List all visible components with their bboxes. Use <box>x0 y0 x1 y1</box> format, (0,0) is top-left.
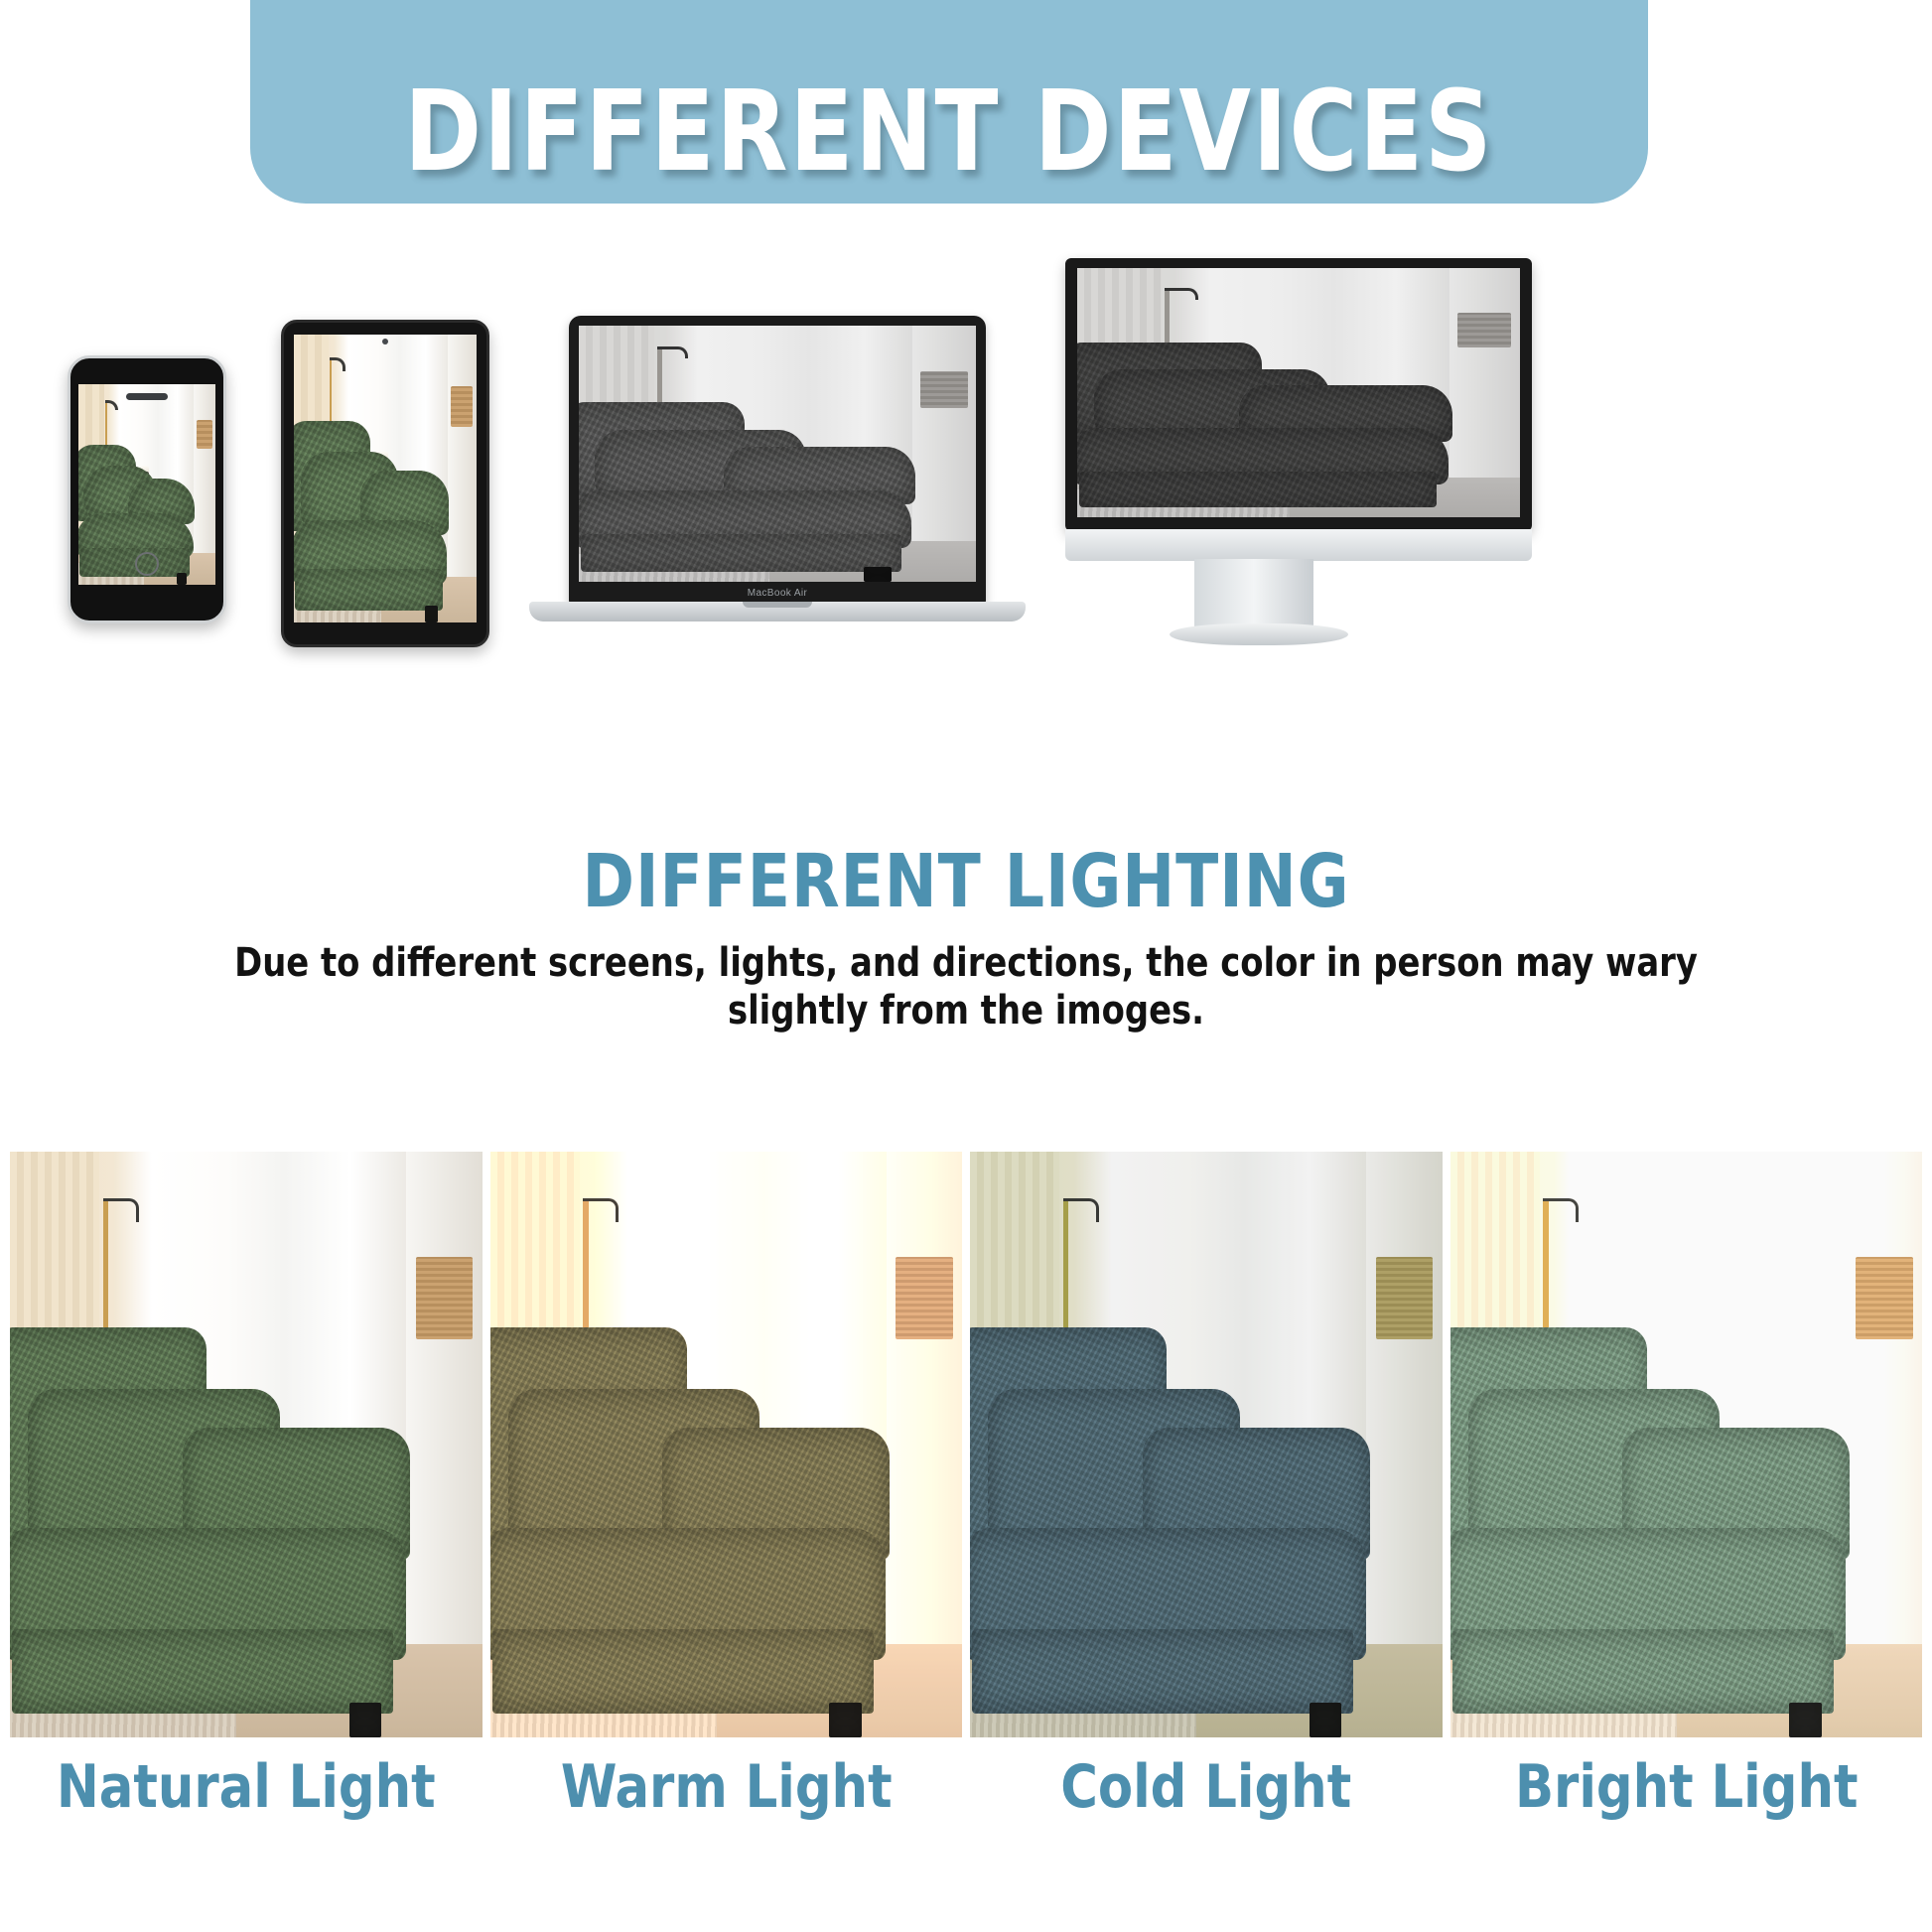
laptop-lid: MacBook Air <box>569 316 986 604</box>
device-tablet <box>281 320 489 647</box>
lighting-subtitle: Due to different screens, lights, and di… <box>58 939 1873 1036</box>
photo-basket <box>1376 1257 1434 1339</box>
sofa-leg <box>425 606 438 622</box>
sofa-base <box>492 1629 874 1715</box>
photo-sofa <box>490 1327 883 1714</box>
sofa-photo <box>579 326 976 582</box>
panel-cold-light <box>970 1152 1443 1737</box>
smartphone-screen <box>78 384 215 585</box>
photo-basket <box>451 386 473 427</box>
monitor-bezel <box>1065 258 1532 531</box>
sofa-photo <box>1077 268 1520 517</box>
monitor-chin <box>1065 529 1532 561</box>
sofa-photo <box>294 335 477 622</box>
lighting-subtitle-line-2: slightly from the imoges. <box>58 987 1873 1035</box>
sofa-leg <box>864 567 892 582</box>
page-title: DIFFERENT DEVICES <box>404 76 1493 188</box>
front-camera-icon <box>382 339 388 345</box>
device-monitor <box>1065 258 1582 675</box>
sofa-leg <box>1310 1703 1342 1737</box>
panel-warm-light <box>490 1152 963 1737</box>
photo-basket <box>896 1257 953 1339</box>
sofa-base <box>1452 1629 1834 1715</box>
sofa-base <box>1079 472 1438 507</box>
sofa-leg <box>1789 1703 1822 1737</box>
monitor-stand-neck <box>1194 559 1313 628</box>
monitor-screen <box>1077 268 1520 517</box>
photo-sofa <box>10 1327 402 1714</box>
device-smartphone <box>68 355 226 623</box>
laptop-screen <box>579 326 976 582</box>
device-laptop: MacBook Air <box>529 316 1026 693</box>
sofa-leg <box>177 573 186 585</box>
sofa-photo <box>1450 1152 1923 1737</box>
label-cold-light: Cold Light <box>982 1752 1431 1822</box>
sofa-photo <box>490 1152 963 1737</box>
photo-basket <box>197 420 213 448</box>
sofa-base <box>581 534 901 571</box>
sofa-base <box>295 569 443 611</box>
sofa-leg <box>829 1703 862 1737</box>
photo-sofa <box>1077 343 1445 507</box>
lighting-subtitle-line-1: Due to different screens, lights, and di… <box>58 939 1873 988</box>
laptop-brand-label: MacBook Air <box>569 588 986 599</box>
photo-sofa <box>294 421 446 611</box>
photo-sofa <box>78 445 193 577</box>
sofa-photo <box>970 1152 1443 1737</box>
photo-basket <box>1856 1257 1913 1339</box>
panel-natural-light <box>10 1152 483 1737</box>
home-button[interactable] <box>135 552 159 576</box>
label-warm-light: Warm Light <box>501 1752 950 1822</box>
lighting-title: DIFFERENT LIGHTING <box>49 844 1884 921</box>
photo-basket <box>416 1257 474 1339</box>
photo-basket <box>1457 313 1511 347</box>
sofa-base <box>12 1629 393 1715</box>
photo-sofa <box>970 1327 1362 1714</box>
device-mockup-strip: MacBook Air <box>0 238 1932 675</box>
photo-basket <box>920 371 969 407</box>
lighting-comparison-grid <box>10 1152 1922 1737</box>
sofa-photo <box>10 1152 483 1737</box>
tablet-screen <box>294 335 477 622</box>
sofa-leg <box>349 1703 382 1737</box>
laptop-deck <box>529 602 1026 621</box>
photo-sofa <box>579 402 908 571</box>
label-bright-light: Bright Light <box>1461 1752 1910 1822</box>
sofa-base <box>972 1629 1353 1715</box>
panel-bright-light <box>1450 1152 1923 1737</box>
photo-sofa <box>1450 1327 1843 1714</box>
lighting-section-header: DIFFERENT LIGHTING Due to different scre… <box>0 844 1932 1035</box>
laptop-lid-notch <box>743 602 812 608</box>
header-banner: DIFFERENT DEVICES <box>250 0 1648 204</box>
earpiece-speaker-icon <box>126 393 168 400</box>
monitor-stand-base <box>1170 623 1348 645</box>
label-natural-light: Natural Light <box>22 1752 471 1822</box>
lighting-label-row: Natural Light Warm Light Cold Light Brig… <box>10 1752 1922 1822</box>
